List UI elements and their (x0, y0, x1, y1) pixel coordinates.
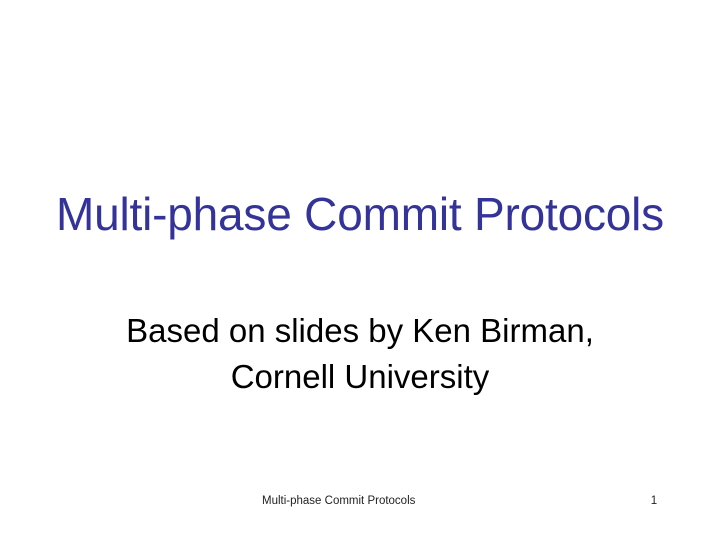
body-line-1: Based on slides by Ken Birman, (60, 308, 660, 354)
presentation-slide: Multi-phase Commit Protocols Based on sl… (0, 0, 720, 540)
body-line-2: Cornell University (60, 354, 660, 400)
footer-title-text: Multi-phase Commit Protocols (262, 493, 415, 509)
slide-title: Multi-phase Commit Protocols (0, 186, 720, 242)
slide-body-text: Based on slides by Ken Birman, Cornell U… (60, 308, 660, 400)
slide-footer: Multi-phase Commit Protocols 1 (0, 493, 720, 513)
footer-page-number: 1 (640, 493, 668, 509)
